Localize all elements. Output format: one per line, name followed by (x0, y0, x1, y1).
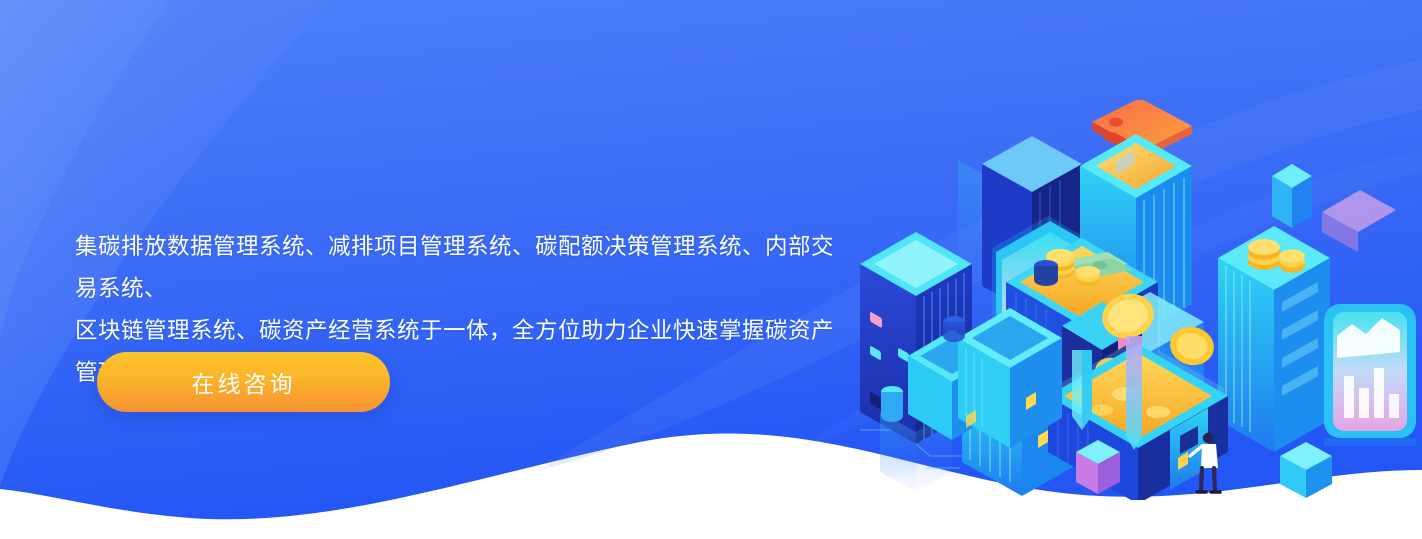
marketing-hero-banner: 集碳排放数据管理系统、减排项目管理系统、碳配额决策管理系统、内部交易系统、 区块… (0, 0, 1422, 539)
banner-background (0, 0, 1422, 539)
online-consultation-button[interactable]: 在线咨询 (97, 352, 390, 412)
